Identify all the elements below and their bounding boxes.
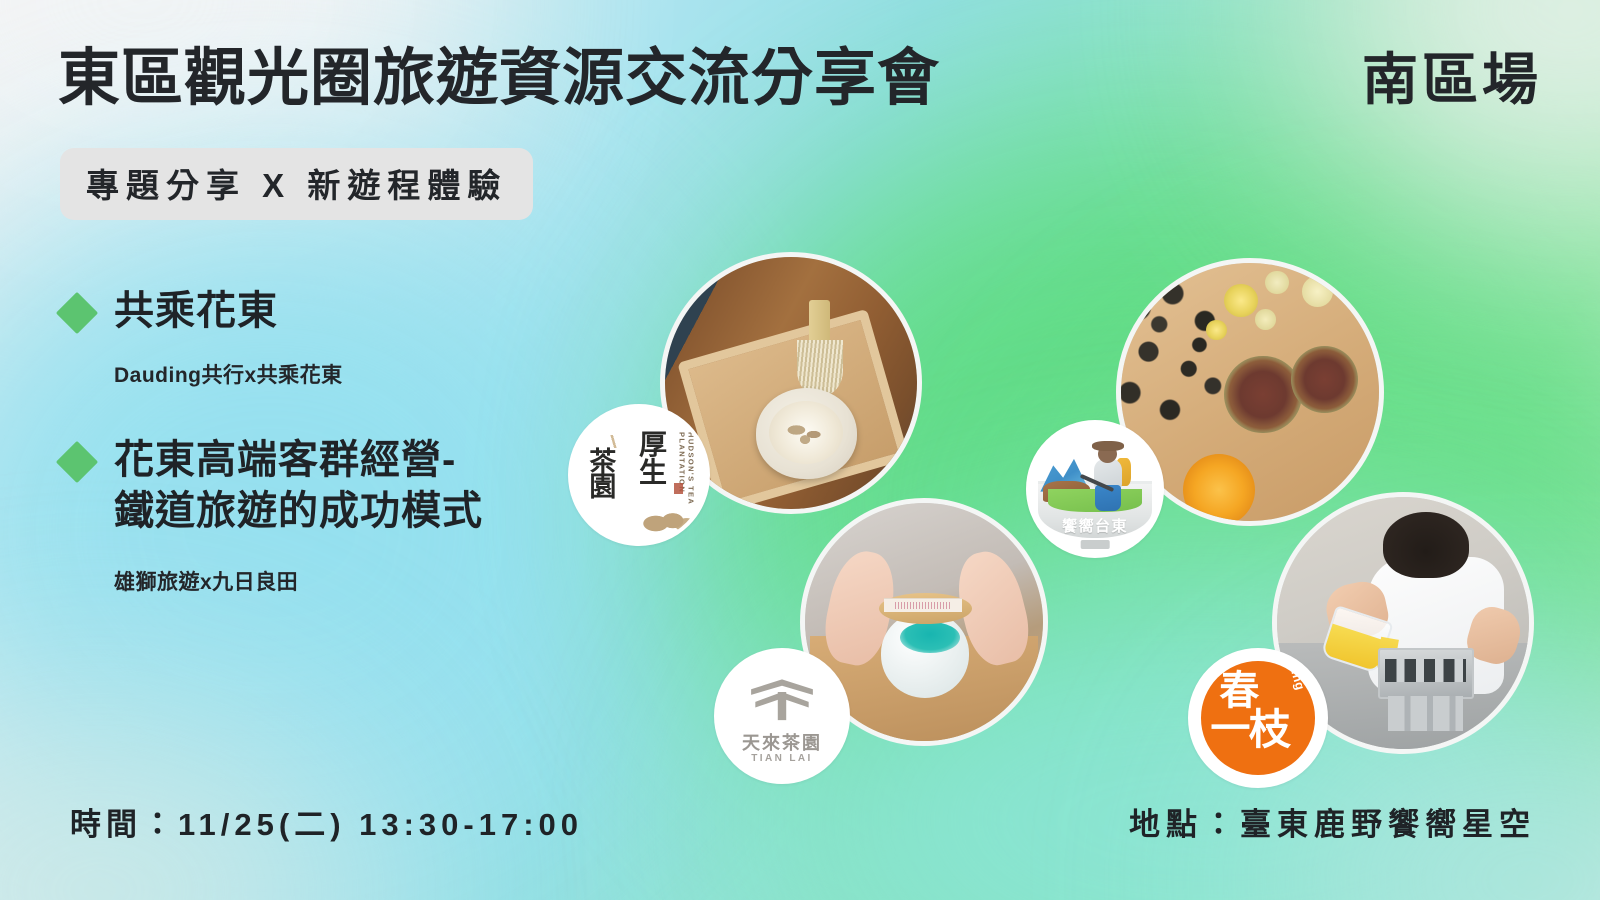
agenda-list: 共乘花東 Dauding共行x共乘花東 花東高端客群經營- 鐵道旅遊的成功模式 … [62,286,622,642]
agenda-item-title: 花東高端客群經營- 鐵道旅遊的成功模式 [114,435,483,537]
dried-orange-slice [1183,454,1255,526]
agenda-item-title-line: 花東高端客群經營- [114,438,456,482]
mountain-leaf-mark-icon [746,678,818,722]
logo-char: 園 [589,475,616,501]
tianlai-tea-garden-logo: 天來茶園 TIAN LAI [714,648,850,784]
chrysanthemum-flower [1206,320,1227,341]
agenda-item: 花東高端客群經營- 鐵道旅遊的成功模式 雄獅旅遊x九日良田 [62,435,622,595]
farmer-hat-icon [1092,441,1123,451]
chrysanthemum-flower [1265,271,1288,294]
bowl-base-icon [1081,540,1110,549]
dried-citrus-slice [1291,346,1358,413]
dried-citrus-slice [1224,356,1301,433]
logo-chinese-name: 天來茶園 [742,729,822,755]
logo-char: 春 [1219,673,1259,710]
child-hair [1383,512,1469,578]
page-title: 東區觀光圈旅遊資源交流分享會 [58,48,940,110]
diamond-bullet-icon [56,441,98,483]
jar-teal-glaze [900,622,960,653]
event-place: 地點：臺東鹿野饗嚮星空 [1129,799,1536,844]
event-poster: 東區觀光圈旅遊資源交流分享會 南區場 專題分享 X 新遊程體驗 共乘花東 Dau… [0,0,1600,900]
logo-chinese-name: 饗嚮台東 [1062,515,1128,536]
agenda-item-subtitle: Dauding共行x共乘花東 [114,359,622,389]
logo-char: 枝 [1249,711,1291,750]
agenda-item-head: 花東高端客群經營- 鐵道旅遊的成功模式 [62,435,622,537]
popsicle-mold-legs [1388,696,1464,731]
event-time: 時間：11/25(二) 13:30-17:00 [70,799,583,844]
logo-text-left: 茶 園 [589,450,616,502]
logo-char: 厚 [639,431,667,459]
chrysanthemum-flower [1224,284,1258,318]
logo-english-name: TIAN LAI [751,753,812,764]
logo-orange-disc: 春 一 枝 IceSpring [1201,661,1315,775]
logo-text-right: 厚 生 [639,431,667,487]
subtitle-badge: 專題分享 X 新遊程體驗 [60,148,533,220]
agenda-item-head: 共乘花東 [62,286,622,337]
chrysanthemum-flower [1255,309,1276,330]
paper-seal [884,598,963,612]
region-label: 南區場 [1362,52,1542,108]
icespring-logo: 春 一 枝 IceSpring [1188,648,1328,788]
agenda-item-title: 共乘花東 [114,286,278,337]
chrysanthemum-flower [1302,276,1333,307]
red-seal-stamp-icon [674,483,683,494]
logo-canvas: 茶 園 厚 生 HUDSON'S TEA PLANTATION [572,408,706,542]
housheng-tea-garden-logo: 茶 園 厚 生 HUDSON'S TEA PLANTATION [568,404,710,546]
tea-bowl [756,388,857,479]
popsicle-mold [1378,648,1474,698]
diamond-bullet-icon [56,292,98,334]
agenda-item-title-line: 鐵道旅遊的成功模式 [114,489,483,533]
agenda-item: 共乘花東 Dauding共行x共乘花東 [62,286,622,389]
agenda-item-subtitle: 雄獅旅遊x九日良田 [114,566,622,596]
logo-char: 一 [1210,711,1250,748]
logo-char: 生 [639,459,667,487]
xiang-taitung-logo: 饗嚮台東 [1026,420,1164,558]
deer-illustration-icon [642,499,696,534]
tea-foam-art [769,401,844,465]
